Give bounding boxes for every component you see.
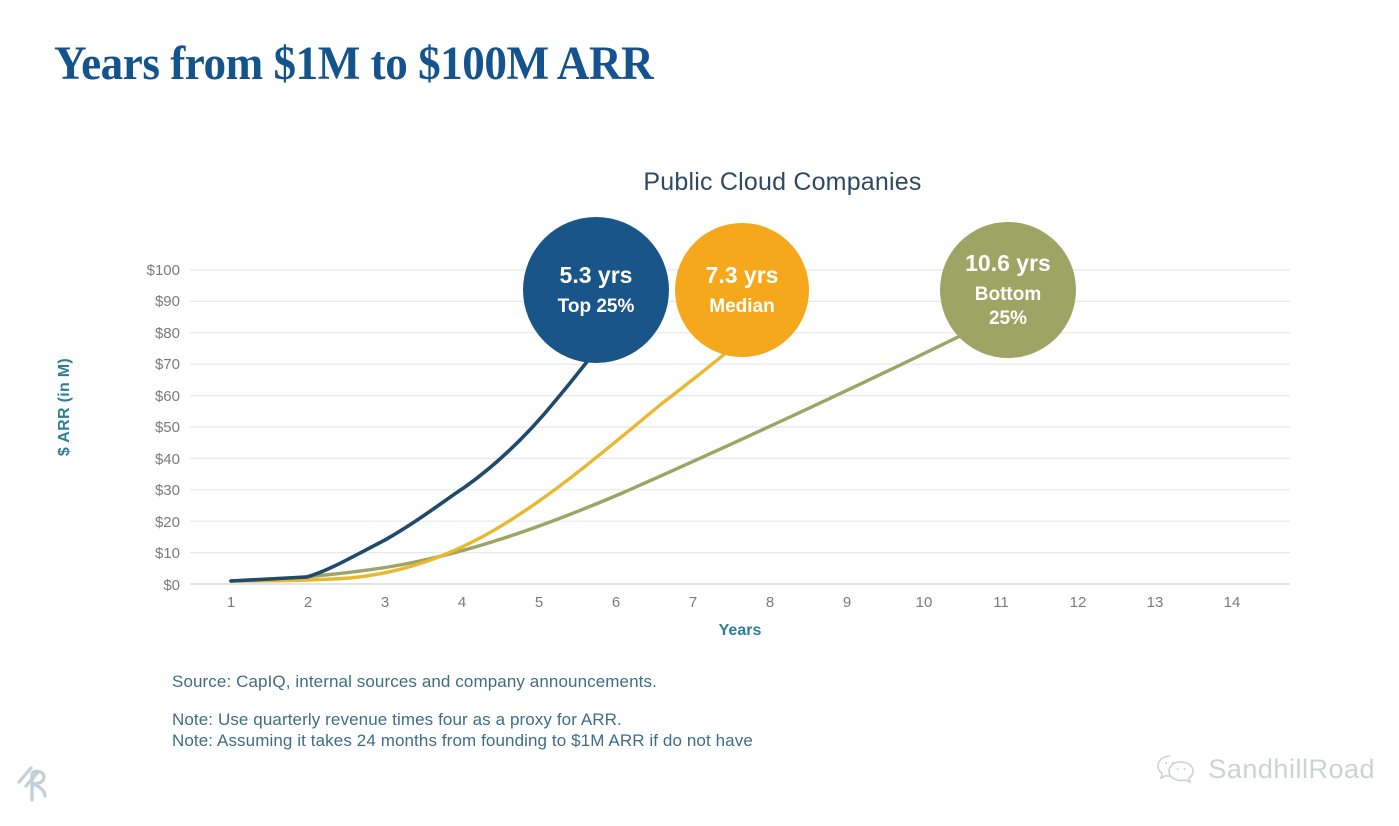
footnote-note-1: Note: Use quarterly revenue times four a… bbox=[172, 710, 622, 730]
bubble-label-line2: 25% bbox=[989, 307, 1027, 331]
footnote-source: Source: CapIQ, internal sources and comp… bbox=[172, 672, 657, 692]
bubble-median[interactable]: 7.3 yrs Median bbox=[675, 223, 809, 357]
bubble-value: 5.3 yrs bbox=[560, 261, 633, 290]
bubble-label: Median bbox=[709, 295, 774, 319]
watermark-text: SandhillRoad bbox=[1208, 754, 1375, 785]
series-line-top-25 bbox=[231, 358, 590, 581]
bubble-value: 7.3 yrs bbox=[706, 261, 779, 290]
bubble-label: Bottom bbox=[975, 283, 1041, 307]
bubble-label: Top 25% bbox=[558, 295, 635, 319]
bubble-top-25[interactable]: 5.3 yrs Top 25% bbox=[523, 217, 669, 363]
bubble-bottom-25[interactable]: 10.6 yrs Bottom 25% bbox=[940, 222, 1076, 358]
chart-plot bbox=[0, 0, 1399, 826]
wechat-icon bbox=[1156, 752, 1196, 786]
watermark: SandhillRoad bbox=[1156, 752, 1375, 786]
footnote-note-2: Note: Assuming it takes 24 months from f… bbox=[172, 731, 753, 751]
chart-container: Years from $1M to $100M ARR Public Cloud… bbox=[0, 0, 1399, 826]
brand-logo-icon bbox=[14, 762, 54, 806]
bubble-value: 10.6 yrs bbox=[965, 249, 1051, 278]
